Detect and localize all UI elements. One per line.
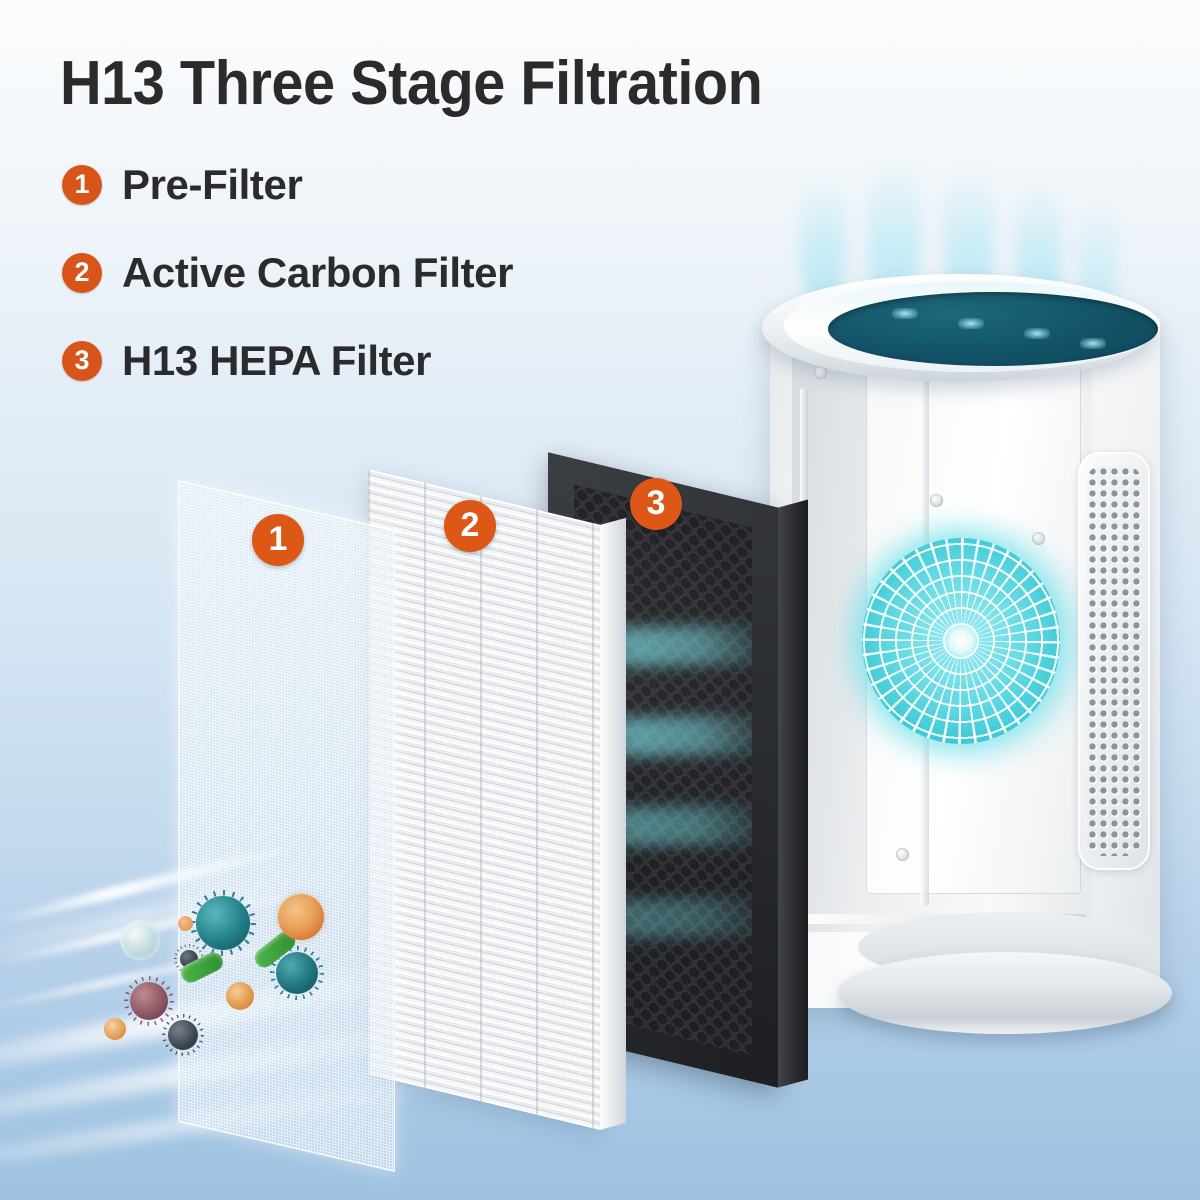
background-swoosh — [0, 1060, 537, 1187]
background-swoosh — [0, 857, 366, 969]
feature-label-3: H13 HEPA Filter — [122, 337, 431, 385]
airflow-streak — [574, 714, 752, 759]
virus-particle — [276, 952, 318, 994]
callout-badge-2: 2 — [444, 500, 496, 552]
housing-rib — [806, 914, 1086, 924]
base-upper — [858, 912, 1158, 982]
feature-list: 1 Pre-Filter 2 Active Carbon Filter 3 H1… — [62, 155, 682, 419]
list-item: 1 Pre-Filter — [62, 155, 682, 215]
top-bowl — [762, 274, 1154, 382]
screw-boss — [896, 848, 909, 861]
top-ring — [784, 280, 1160, 372]
hepa-side-edge — [600, 518, 626, 1130]
hepa-pleat-face — [368, 469, 600, 1130]
list-item: 3 H13 HEPA Filter — [62, 331, 682, 391]
carbon-honeycomb-core — [574, 485, 752, 1056]
airflow-plume — [1016, 182, 1062, 310]
callout-badge-1: 1 — [252, 514, 304, 566]
dust-particle — [180, 950, 198, 968]
housing-rib — [800, 388, 808, 718]
bacteria-rod — [251, 928, 299, 971]
rotating-base — [838, 952, 1172, 1034]
pollen-grain — [278, 894, 324, 940]
callout-badge-3: 3 — [630, 478, 682, 530]
top-outlet-assembly — [748, 252, 1168, 382]
background-swoosh — [0, 946, 497, 1090]
step-badge-2: 2 — [62, 253, 102, 293]
background-swoosh — [0, 1001, 537, 1141]
virus-particle — [196, 896, 250, 950]
infographic-canvas: H13 Three Stage Filtration 1 Pre-Filter … — [0, 0, 1200, 1200]
housing-back-panel — [866, 354, 1081, 894]
list-item: 2 Active Carbon Filter — [62, 243, 682, 303]
airflow-streak — [0, 889, 297, 971]
airflow-streak — [574, 896, 752, 941]
purifier-housing — [770, 318, 1160, 1008]
fan-glow — [838, 516, 1088, 768]
airflow-streak — [574, 804, 752, 849]
timer-icon[interactable] — [1024, 328, 1050, 339]
airflow-plume — [800, 176, 846, 304]
mode-icon[interactable] — [1080, 338, 1106, 349]
bacteria-rod — [178, 949, 226, 985]
page-title: H13 Three Stage Filtration — [60, 52, 762, 116]
screw-boss — [930, 494, 943, 507]
step-badge-1: 1 — [62, 165, 102, 205]
pollen-grain — [104, 1018, 126, 1040]
fan-impeller — [862, 538, 1060, 744]
feature-label-2: Active Carbon Filter — [122, 249, 513, 297]
pre-filter-mesh — [178, 480, 395, 1172]
virus-particle — [168, 1020, 198, 1050]
power-icon[interactable] — [892, 308, 918, 319]
airflow-plume — [868, 160, 920, 306]
feature-label-1: Pre-Filter — [122, 161, 302, 209]
fan-hub — [944, 624, 978, 658]
housing-inner-wall — [792, 332, 1092, 932]
airflow-plume — [1078, 200, 1118, 312]
pollen-grain — [178, 916, 193, 931]
screw-boss — [814, 366, 827, 379]
virus-particle — [130, 982, 168, 1020]
carbon-side-edge — [778, 500, 808, 1088]
hepa-pleated-filter — [368, 469, 600, 1130]
airflow-streak — [0, 938, 297, 1015]
grille-dot-matrix — [1087, 466, 1141, 856]
control-panel[interactable] — [828, 292, 1158, 366]
housing-rib — [920, 346, 929, 906]
step-badge-3: 3 — [62, 341, 102, 381]
airflow-streak — [574, 624, 752, 669]
pollen-grain — [226, 982, 254, 1010]
mold-spore — [120, 920, 160, 960]
side-perforated-grille — [1078, 452, 1150, 870]
airflow-streak — [0, 844, 287, 928]
screw-boss — [1032, 532, 1045, 545]
fan-speed-icon[interactable] — [958, 318, 984, 329]
carbon-foam-frame — [548, 452, 778, 1087]
airflow-plume — [944, 168, 994, 308]
active-carbon-filter — [548, 452, 778, 1087]
